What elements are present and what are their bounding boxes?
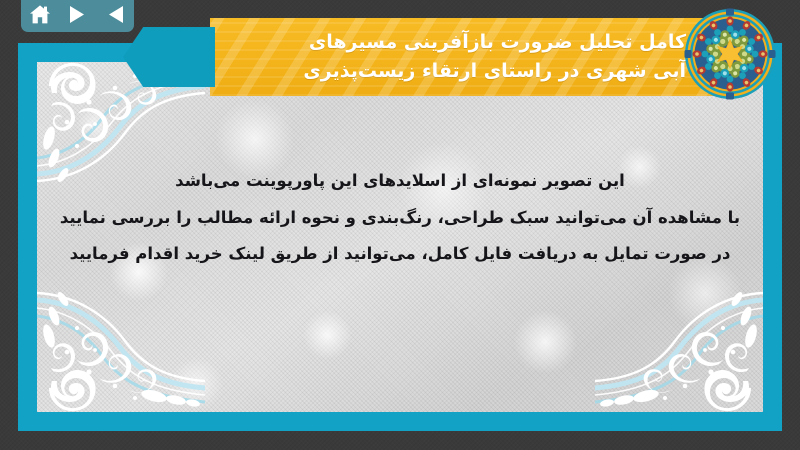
slide-title: کامل تحلیل ضرورت بازآفرینی مسیرهای آبی ش… (210, 18, 742, 96)
slide-viewer: این تصویر نمونه‌ای از اسلایدهای این پاور… (0, 0, 800, 450)
previous-slide-button[interactable] (101, 1, 129, 27)
body-line-2: با مشاهده آن می‌توانید سبک طراحی، رنگ‌بن… (58, 200, 742, 237)
persian-rosette-medallion-icon (684, 8, 776, 100)
body-line-1: این تصویر نمونه‌ای از اسلایدهای این پاور… (58, 163, 742, 200)
slide-frame: این تصویر نمونه‌ای از اسلایدهای این پاور… (18, 43, 782, 431)
home-button[interactable] (26, 1, 54, 27)
title-line-2: آبی شهری در راستای ارتقاء زیست‌پذیری (303, 57, 686, 86)
body-line-3: در صورت تمایل به دریافت فایل کامل، می‌تو… (58, 236, 742, 273)
next-slide-button[interactable] (64, 1, 92, 27)
title-line-1: کامل تحلیل ضرورت بازآفرینی مسیرهای (309, 28, 686, 57)
slide-title-banner: کامل تحلیل ضرورت بازآفرینی مسیرهای آبی ش… (210, 18, 742, 96)
slide-body-text: این تصویر نمونه‌ای از اسلایدهای این پاور… (58, 163, 742, 273)
navigation-toolbar (21, 0, 134, 32)
